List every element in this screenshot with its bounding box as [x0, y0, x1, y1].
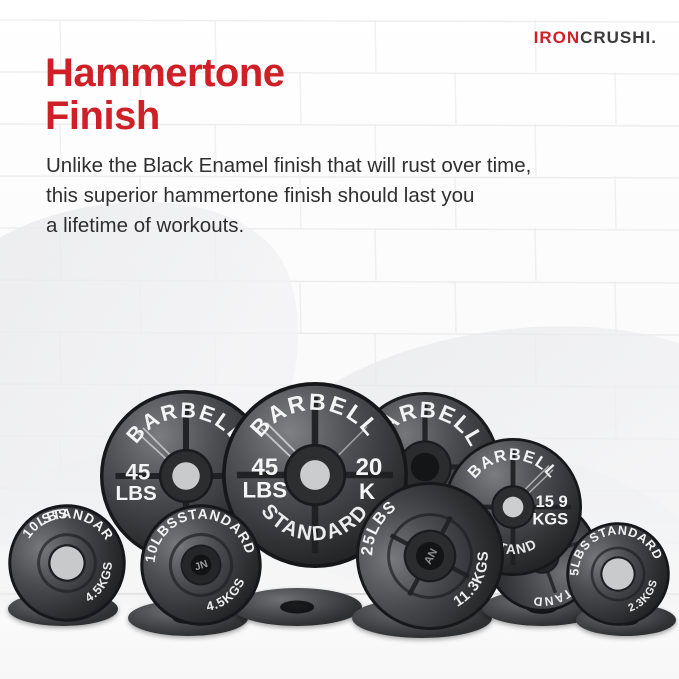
product-marketing-image: IRONCRUSHI. Hammertone Finish Unlike the… [0, 0, 679, 679]
page-title: Hammertone Finish [45, 52, 465, 138]
plate-weight-lbs-left: 45 [125, 459, 150, 484]
plate-weight-kgs-right: 15 9 [536, 492, 568, 511]
body-line-3: a lifetime of workouts. [46, 211, 671, 241]
headline-line-2: Finish [45, 95, 465, 138]
plate-unit-kgs-center: K [359, 479, 375, 504]
body-line-2: this superior hammertone finish should l… [46, 181, 671, 211]
brand-logo-crush: CRUSHI. [580, 28, 657, 47]
plate-unit-lbs-left: LBS [115, 482, 156, 505]
brand-logo-iron: IRON [534, 28, 581, 47]
headline-line-1: Hammertone [45, 52, 465, 95]
brand-logo: IRONCRUSHI. [534, 28, 657, 48]
plate-unit-lbs-center: LBS [242, 477, 287, 502]
description-text: Unlike the Black Enamel finish that will… [46, 151, 671, 241]
plate-unit-kgs-right: KGS [532, 509, 568, 528]
body-line-1: Unlike the Black Enamel finish that will… [46, 151, 671, 181]
plate-weight-kgs-center: 20 [355, 454, 382, 481]
